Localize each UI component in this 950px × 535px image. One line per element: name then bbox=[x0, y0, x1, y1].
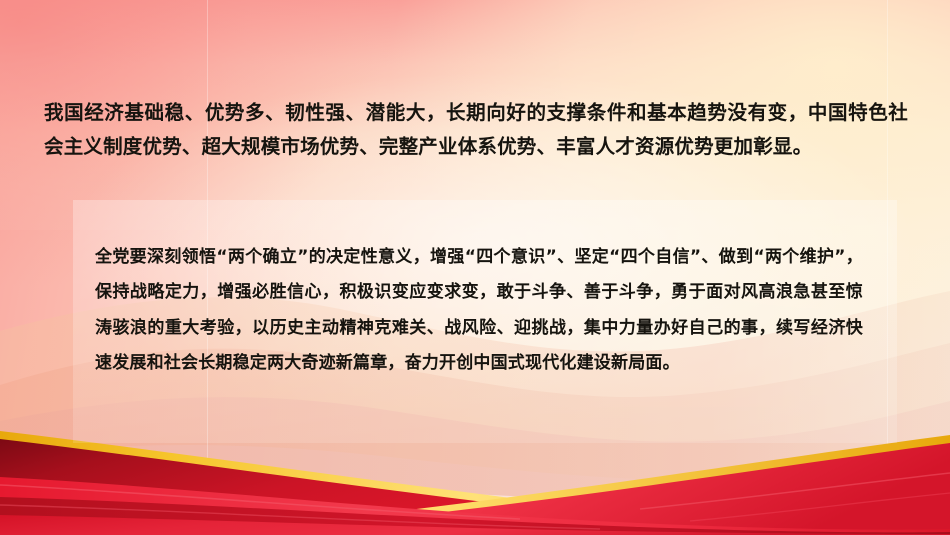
lead-paragraph: 我国经济基础稳、优势多、韧性强、潜能大，长期向好的支撑条件和基本趋势没有变，中国… bbox=[44, 96, 908, 163]
slide-content: 我国经济基础稳、优势多、韧性强、潜能大，长期向好的支撑条件和基本趋势没有变，中国… bbox=[0, 0, 950, 535]
highlight-panel: 全党要深刻领悟“两个确立”的决定性意义，增强“四个意识”、坚定“四个自信”、做到… bbox=[73, 200, 897, 443]
slide-canvas: 我国经济基础稳、优势多、韧性强、潜能大，长期向好的支撑条件和基本趋势没有变，中国… bbox=[0, 0, 950, 535]
highlight-panel-text: 全党要深刻领悟“两个确立”的决定性意义，增强“四个意识”、坚定“四个自信”、做到… bbox=[95, 240, 863, 381]
highlight-panel-body: 全党要深刻领悟“两个确立”的决定性意义，增强“四个意识”、坚定“四个自信”、做到… bbox=[95, 240, 863, 381]
